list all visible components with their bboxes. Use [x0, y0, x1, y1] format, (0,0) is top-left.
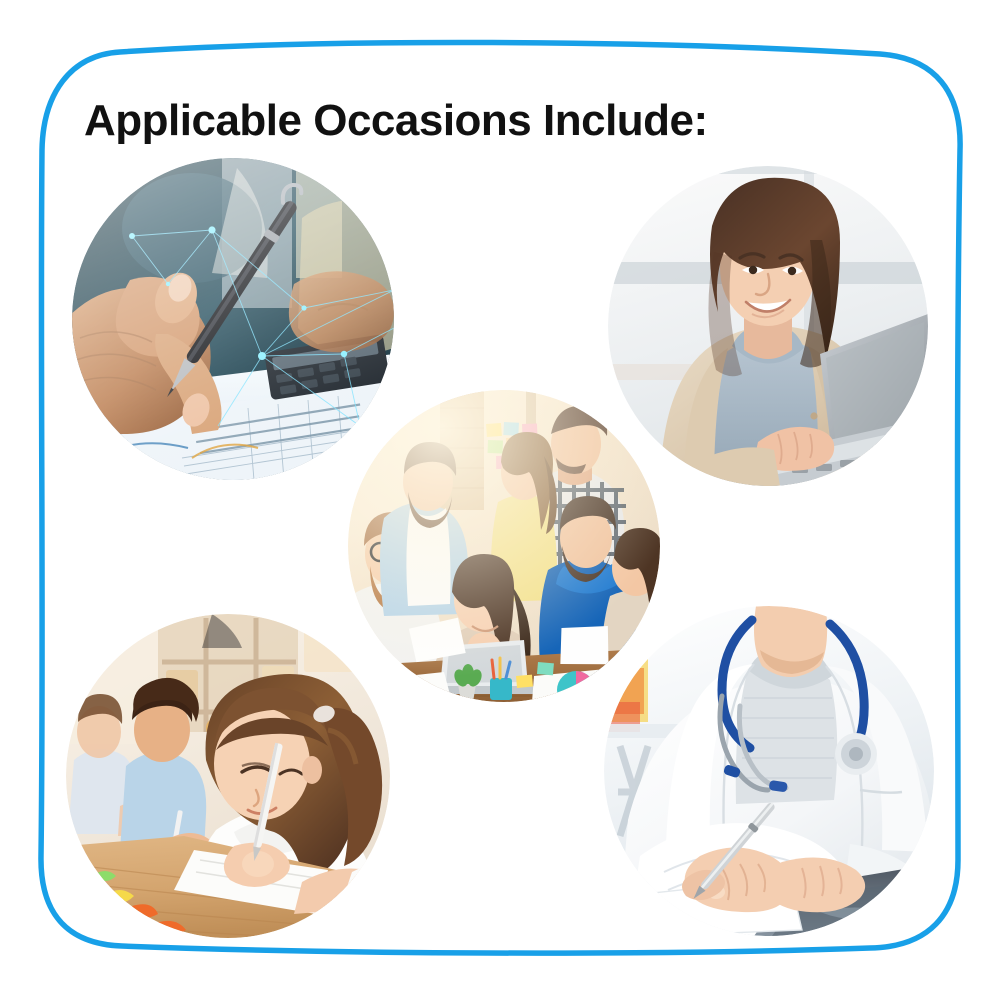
occasion-tile-health-care: Health Care [604, 606, 934, 936]
school-photo [66, 614, 390, 938]
occasion-tile-bank: Bank [72, 158, 394, 480]
promo-banner: Applicable Occasions Include: [0, 0, 1000, 1000]
health-care-photo [604, 606, 934, 936]
bank-photo [72, 158, 394, 480]
occasion-tile-school: School [66, 614, 390, 938]
page-title: Applicable Occasions Include: [84, 96, 708, 146]
